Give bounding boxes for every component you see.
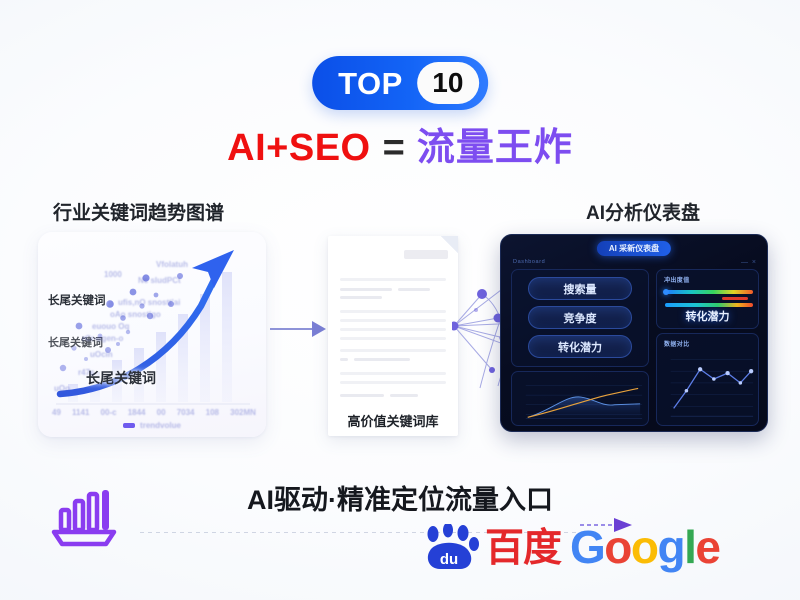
top-badge: TOP 10	[312, 56, 488, 110]
google-logo: Google	[570, 524, 719, 570]
doc-line	[340, 337, 446, 340]
x-tick-6: 108	[206, 408, 219, 417]
badge-word: TOP	[338, 68, 417, 99]
dashboard-line-chart-panel: 数据对比	[656, 333, 759, 426]
metric-button-conversion[interactable]: 转化潜力	[528, 335, 632, 358]
blur-word-4: oAo snost'go	[110, 310, 161, 319]
baidu-wordmark: 百度	[485, 529, 561, 568]
flow-arrow-icon	[268, 312, 328, 346]
document-sheet	[328, 236, 458, 436]
gauge-knob-icon[interactable]	[663, 289, 669, 295]
trend-x-axis: 49 1141 00-c 1844 00 7034 108 302MN	[52, 408, 256, 417]
doc-line	[340, 296, 382, 299]
gauge-threshold-marker	[722, 297, 748, 300]
title-right: 流量王炸	[417, 127, 573, 169]
gauge-overlay-label: 转化潜力	[657, 308, 758, 324]
blur-word-5: euouo Oq	[92, 322, 129, 331]
x-tick-2: 00-c	[101, 408, 117, 417]
x-tick-7: 302MN	[230, 408, 256, 417]
document-caption: 高价值关键词库	[328, 411, 458, 430]
x-tick-4: 00	[157, 408, 166, 417]
doc-line	[340, 278, 446, 281]
doc-line	[390, 394, 418, 397]
google-letter-o2: o	[631, 521, 658, 573]
google-letter-e: e	[695, 521, 719, 573]
google-letter-o1: o	[604, 521, 631, 573]
line-panel-label: 数据对比	[664, 339, 690, 348]
google-letter-g2: g	[658, 521, 685, 573]
analytics-bars-icon	[44, 482, 124, 548]
dashboard-menu-icon[interactable]: — ×	[741, 259, 757, 266]
blur-word-2: Nc sludPCt	[138, 276, 181, 285]
title-equals: =	[371, 127, 417, 169]
ai-dashboard-card: AI 采新仪表盘 Dashboard — × 搜索量 竞争度 转化潜力 冲出度值…	[500, 234, 768, 432]
caption-ai-dashboard: AI分析仪表盘	[586, 198, 700, 225]
google-letter-g1: G	[570, 521, 604, 573]
dashboard-titlebar: AI 采新仪表盘	[501, 239, 767, 257]
baidu-logo: du 百度	[420, 524, 561, 572]
x-tick-5: 7034	[177, 408, 195, 417]
caption-trend-chart: 行业关键词趋势图谱	[53, 198, 224, 225]
blur-word-6: rCr-dgen-o	[82, 334, 123, 343]
area-chart-svg	[512, 372, 648, 425]
blur-word-10: uOo	[54, 384, 70, 393]
google-letter-l: l	[684, 521, 695, 573]
doc-line	[340, 328, 446, 331]
badge-number-pill: 10	[417, 62, 479, 104]
metric-button-search-volume[interactable]: 搜索量	[528, 277, 632, 300]
doc-line	[340, 372, 446, 375]
dashboard-gauge-panel: 冲出度值 转化潜力	[656, 269, 759, 329]
metric-button-competition[interactable]: 竞争度	[528, 306, 632, 329]
legend-label: trendvolue	[140, 421, 181, 430]
blur-word-1: Vfolatuh	[156, 260, 188, 269]
gauge-panel-label: 冲出度值	[664, 275, 690, 284]
doc-line	[340, 349, 446, 352]
doc-line	[340, 319, 446, 322]
title-left: AI+SEO	[227, 127, 370, 169]
trend-label-1: 长尾关键词	[48, 292, 106, 308]
gauge-bar-primary	[665, 290, 753, 294]
blur-word-7: uOcin	[90, 350, 113, 359]
blur-word-3: ufis,nO snostt'ai	[118, 298, 180, 307]
doc-line	[398, 288, 430, 291]
dashboard-title: AI 采新仪表盘	[597, 241, 671, 256]
gauge-bar-secondary	[665, 303, 753, 307]
doc-line	[340, 310, 446, 313]
svg-text:du: du	[440, 551, 458, 568]
x-tick-3: 1844	[128, 408, 146, 417]
blur-word-8: 1000	[104, 270, 122, 279]
badge-number: 10	[432, 69, 463, 97]
page-title: AI+SEO=流量王炸	[0, 128, 800, 170]
x-tick-0: 49	[52, 408, 61, 417]
dashboard-area-chart-panel	[511, 371, 649, 426]
doc-bullet	[340, 358, 348, 361]
doc-line	[354, 358, 410, 361]
doc-line	[340, 394, 384, 397]
legend-swatch-icon	[123, 423, 135, 428]
dashboard-subtitle: Dashboard	[513, 259, 545, 265]
trend-chart-card: 长尾关键词 长尾关键词 长尾关键词 Vfolatuh Nc sludPCt uf…	[38, 232, 266, 437]
doc-line	[340, 381, 446, 384]
document-header-chip	[404, 250, 448, 259]
doc-line	[340, 288, 392, 291]
baidu-paw-icon: du	[420, 524, 482, 572]
blur-word-9: r47c	[78, 368, 94, 377]
keyword-document-card: 高价值关键词库	[328, 236, 458, 436]
trend-label-3: 长尾关键词	[86, 368, 156, 388]
trend-legend: trendvolue	[38, 421, 266, 430]
x-tick-1: 1141	[72, 408, 89, 417]
dashboard-metrics-panel: 搜索量 竞争度 转化潜力	[511, 269, 649, 367]
